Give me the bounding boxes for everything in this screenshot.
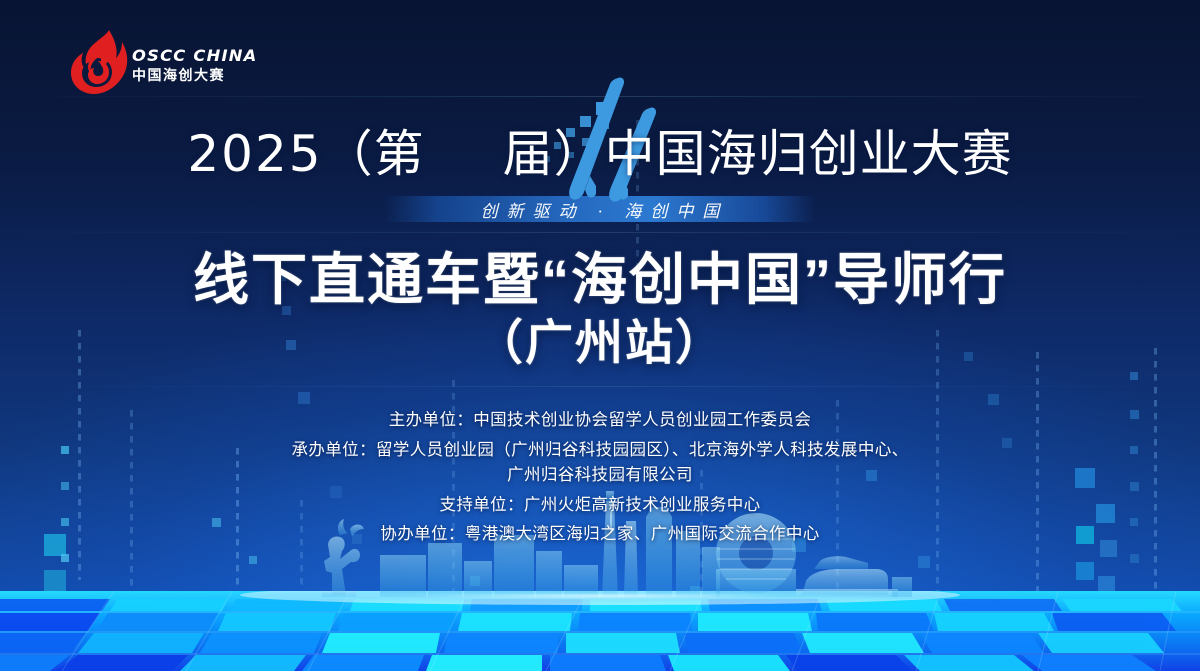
title-event-name: 中国海归创业大赛 xyxy=(605,126,1013,182)
logo-english-text: OSCC CHINA xyxy=(132,48,246,64)
perspective-grid-floor xyxy=(0,591,1200,671)
horizon-glow xyxy=(0,591,1200,601)
decor-square xyxy=(44,570,66,592)
organizer-credits: 主办单位：中国技术创业协会留学人员创业园工作委员会 承办单位：留学人员创业园（广… xyxy=(0,412,1200,556)
event-poster: OSCC CHINA 中国海创大赛 xyxy=(0,0,1200,671)
headline-primary: 线下直通车暨“海创中国”导师行 xyxy=(0,250,1200,310)
logo-wordmark: OSCC CHINA 中国海创大赛 xyxy=(132,48,244,82)
title-bracket-close: 届） xyxy=(503,126,605,182)
flame-phoenix-logo-icon xyxy=(68,28,130,100)
headline-secondary: （广州站） xyxy=(0,318,1200,371)
decor-square xyxy=(249,556,257,564)
brand-logo[interactable]: OSCC CHINA 中国海创大赛 xyxy=(58,26,248,106)
title-block: 2025（第届）中国海归创业大赛 创新驱动 · 海创中国 线下直通车暨“海创中国… xyxy=(0,118,1200,371)
logo-chinese-text: 中国海创大赛 xyxy=(132,68,244,82)
page-title: 2025（第届）中国海归创业大赛 xyxy=(187,129,1012,179)
decor-square xyxy=(298,392,310,404)
decor-square xyxy=(988,394,999,405)
credit-line-support: 支持单位：广州火炬高新技术创业服务中心 xyxy=(0,497,1200,514)
title-year: 2025 xyxy=(187,125,322,183)
credit-line-organizer: 承办单位：留学人员创业园（广州归谷科技园园区）、北京海外学人科技发展中心、 xyxy=(0,442,1200,459)
credit-line-organizer-cont: 广州归谷科技园有限公司 xyxy=(0,467,1200,484)
main-title-row: 2025（第届）中国海归创业大赛 xyxy=(0,118,1200,190)
decor-square xyxy=(1076,562,1094,580)
credit-line-host: 主办单位：中国技术创业协会留学人员创业园工作委员会 xyxy=(0,412,1200,429)
credit-line-coorganizer: 协办单位：粤港澳大湾区海归之家、广州国际交流合作中心 xyxy=(0,526,1200,543)
horizontal-light-streak xyxy=(0,386,1200,387)
title-bracket-open: （第 xyxy=(323,126,425,182)
decor-square xyxy=(1130,372,1138,380)
floor-tiles xyxy=(0,591,1200,671)
